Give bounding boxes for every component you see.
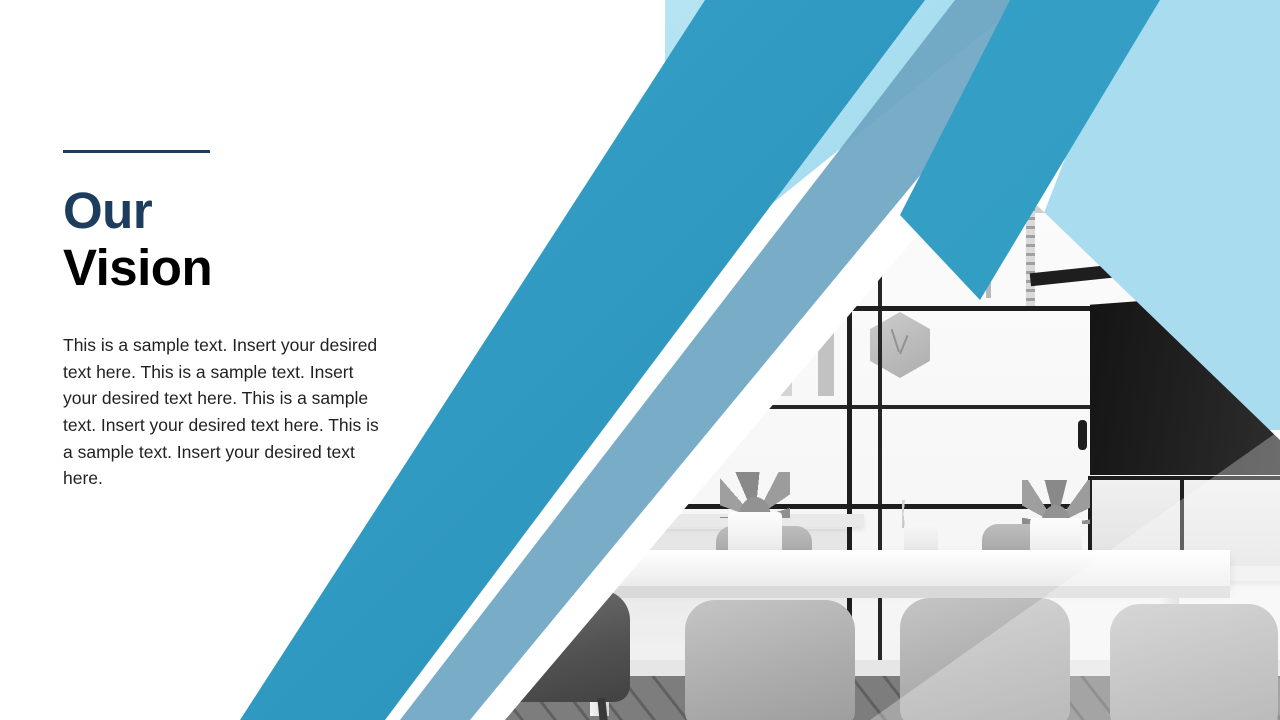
page-title: Our Vision bbox=[63, 182, 403, 296]
chair-legs bbox=[480, 698, 630, 720]
body-paragraph: This is a sample text. Insert your desir… bbox=[63, 332, 385, 492]
page-title-line-2: Vision bbox=[63, 239, 403, 296]
meeting-chair bbox=[1110, 604, 1278, 720]
page-title-line-1: Our bbox=[63, 182, 403, 239]
title-accent-rule bbox=[63, 150, 210, 153]
presentation-slide: Our Vision This is a sample text. Insert… bbox=[0, 0, 1280, 720]
conference-table-top bbox=[510, 550, 1230, 586]
window-handle bbox=[1078, 420, 1087, 450]
meeting-chair bbox=[900, 598, 1070, 720]
meeting-chair bbox=[685, 600, 855, 720]
text-content-column: Our Vision This is a sample text. Insert… bbox=[63, 150, 403, 492]
